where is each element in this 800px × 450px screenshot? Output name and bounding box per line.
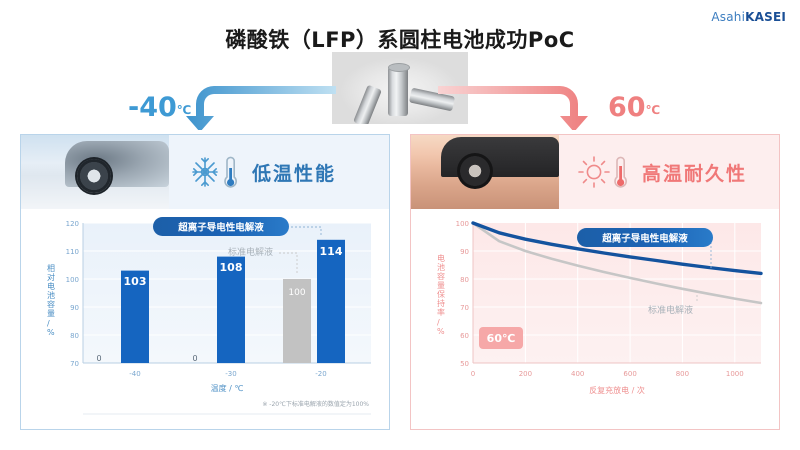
line-legend-standard-electrolyte: 标准电解液 [648,304,693,316]
high-temperature-panel-header: 高温耐久性 [411,135,779,209]
desert-sunset-car-tire-photo [411,135,559,209]
svg-text:80: 80 [460,276,469,284]
svg-text:90: 90 [70,304,79,312]
low-temperature-panel: 低温性能 [20,134,390,430]
cold-flow-arrow-icon [170,84,336,130]
snowflake-thermometer-icon [187,152,243,192]
high-temperature-heading-text: 高温耐久性 [642,159,747,186]
bar-label-blue-neg40: 103 [124,275,147,288]
svg-text:120: 120 [66,220,79,228]
hot-flow-arrow-icon [438,84,604,130]
svg-text:100: 100 [456,220,469,228]
battery-cell-left [353,85,382,124]
line-x-tick-800: 800 [676,370,689,378]
line-x-tick-200: 200 [519,370,532,378]
line-chart-svg: 100 90 80 70 60 50 电池容量保持率/% 0 200 400 6… [411,209,781,429]
bar-chart-x-axis-title: 温度 / ℃ [211,383,244,393]
bar-blue-neg20 [317,240,345,363]
line-x-tick-400: 400 [571,370,584,378]
svg-text:80: 80 [70,332,79,340]
temperature-badge-60c-text: 60℃ [487,332,516,345]
snowy-road-car-tire-photo [21,135,169,209]
hot-temperature-value: 60 [608,92,646,123]
svg-text:110: 110 [66,248,79,256]
legend-super-ionic-pill: 超离子导电性电解液 [153,217,289,236]
asahi-kasei-logo: AsahiKASEI [711,10,786,24]
page-title: 磷酸铁（LFP）系圆柱电池成功PoC [0,24,800,54]
line-x-tick-1000: 1000 [726,370,744,378]
logo-kasei-text: KASEI [745,10,786,24]
bar-chart-footnote: ※ -20℃下标准电解液的数值定为100% [262,400,369,408]
hot-temperature-label: 60℃ [608,92,660,123]
low-temperature-panel-header: 低温性能 [21,135,389,209]
svg-text:70: 70 [70,360,79,368]
low-temperature-bar-chart: 120 110 100 90 80 70 相对电池容量/% 103 0 108 … [21,209,391,429]
svg-text:50: 50 [460,360,469,368]
temperature-badge-60c: 60℃ [479,327,523,349]
high-temperature-heading-area: 高温耐久性 [559,135,779,209]
sun-thermometer-icon [577,152,633,192]
bar-x-tick-neg40: -40 [129,370,140,378]
bar-chart-svg: 120 110 100 90 80 70 相对电池容量/% 103 0 108 … [21,209,391,429]
logo-asahi-text: Asahi [711,10,745,24]
low-temperature-heading-area: 低温性能 [169,135,389,209]
legend-super-ionic-text: 超离子导电性电解液 [177,222,264,234]
bar-x-tick-neg30: -30 [225,370,236,378]
battery-cell-standing [388,66,408,116]
slide-root: AsahiKASEI 磷酸铁（LFP）系圆柱电池成功PoC -40℃ 60℃ [0,0,800,450]
bar-label-blue-neg20: 114 [320,245,343,258]
line-chart-x-axis-title: 反复充放电 / 次 [589,385,645,395]
high-temperature-line-chart: 100 90 80 70 60 50 电池容量保持率/% 0 200 400 6… [411,209,781,429]
hot-temperature-unit: ℃ [646,103,661,117]
line-x-tick-0: 0 [471,370,475,378]
line-chart-y-axis-title: 电池容量保持率/% [437,253,445,336]
line-legend-super-ionic-text: 超离子导电性电解液 [601,233,688,245]
line-x-tick-600: 600 [623,370,636,378]
line-legend-super-ionic-pill: 超离子导电性电解液 [577,228,713,247]
legend-standard-electrolyte: 标准电解液 [228,246,273,258]
svg-text:100: 100 [66,276,79,284]
high-temperature-panel: 高温耐久性 [410,134,780,430]
svg-text:90: 90 [460,248,469,256]
bar-chart-y-axis-title: 相对电池容量/% [47,263,55,337]
bar-label-gray-neg40: 0 [96,354,101,363]
bar-label-gray-neg30: 0 [192,354,197,363]
bar-label-blue-neg30: 108 [220,261,243,274]
bar-x-tick-neg20: -20 [315,370,326,378]
svg-text:60: 60 [460,332,469,340]
bar-label-gray-neg20: 100 [288,288,305,298]
svg-text:70: 70 [460,304,469,312]
low-temperature-heading-text: 低温性能 [252,159,336,186]
